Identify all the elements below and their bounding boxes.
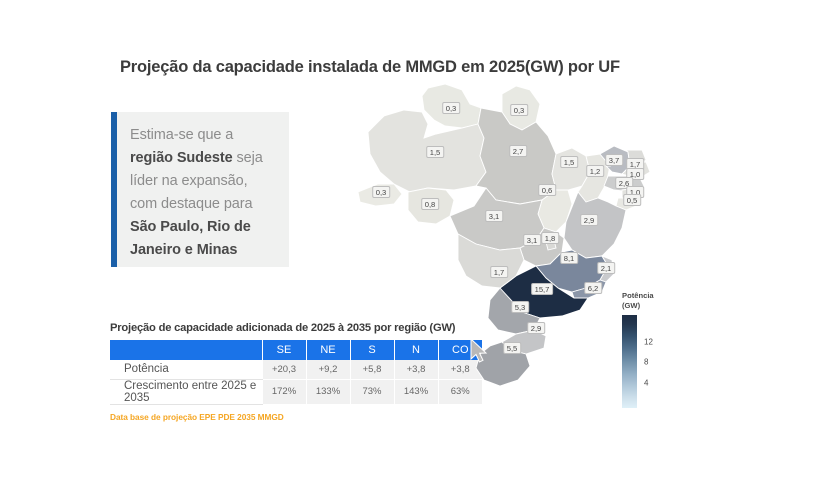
map-value-label-mt: 3,1	[485, 210, 503, 222]
legend-title: Potência (GW)	[622, 291, 692, 311]
cell-potencia-ne: +9,2	[306, 360, 350, 379]
map-value-label-rs: 5,5	[503, 342, 521, 354]
map-value-label-pa: 2,7	[509, 145, 527, 157]
infographic-root: Projeção da capacidade instalada de MMGD…	[0, 0, 826, 479]
col-header-blank	[110, 340, 262, 360]
legend-title-line1: Potência	[622, 291, 692, 301]
map-value-label-ma: 1,5	[560, 156, 578, 168]
callout-box: Estima-se que a região Sudeste seja líde…	[111, 112, 289, 267]
map-value-label-se: 0,5	[623, 194, 641, 206]
legend-tick-8: 8	[644, 358, 648, 367]
map-value-label-mg: 8,1	[560, 252, 578, 264]
legend-colorbar	[622, 315, 637, 408]
col-header-ne: NE	[306, 340, 350, 360]
map-value-label-to: 0,6	[538, 184, 556, 196]
map-value-label-df: 1,8	[541, 232, 559, 244]
legend-tick-4: 4	[644, 379, 648, 388]
map-value-label-sc: 2,9	[527, 322, 545, 334]
uf-shape-group	[358, 84, 650, 386]
legend-tick-12: 12	[644, 338, 653, 347]
map-value-label-rj: 6,2	[584, 282, 602, 294]
map-value-label-sp: 15,7	[531, 283, 553, 295]
cell-crescimento-se: 172%	[262, 379, 306, 404]
map-value-label-go: 3,1	[523, 234, 541, 246]
map-value-label-ba: 2,9	[580, 214, 598, 226]
callout-line1: Estima-se que a	[130, 127, 233, 143]
map-value-label-ce: 3,7	[605, 154, 623, 166]
map-legend: Potência (GW) 12 8 4	[622, 291, 692, 408]
map-value-label-es: 2,1	[597, 262, 615, 274]
row-label-potencia: Potência	[110, 360, 262, 379]
cell-potencia-se: +20,3	[262, 360, 306, 379]
mouse-cursor-icon	[470, 338, 489, 368]
cell-crescimento-ne: 133%	[306, 379, 350, 404]
col-header-se: SE	[262, 340, 306, 360]
table-footnote: Data base de projeção EPE PDE 2035 MMGD	[110, 412, 482, 422]
map-value-label-ms: 1,7	[490, 266, 508, 278]
legend-title-line2: (GW)	[622, 301, 692, 311]
callout-text: Estima-se que a região Sudeste seja líde…	[130, 124, 275, 262]
map-value-label-ac: 0,3	[372, 186, 390, 198]
map-value-label-ro: 0,8	[421, 198, 439, 210]
legend-body: 12 8 4	[622, 315, 688, 408]
callout-bold1: região Sudeste	[130, 150, 233, 166]
map-value-label-rr: 0,3	[442, 102, 460, 114]
map-value-label-am: 1,5	[426, 146, 444, 158]
map-value-label-pi: 1,2	[586, 165, 604, 177]
map-value-label-pr: 5,3	[511, 301, 529, 313]
row-label-crescimento: Crescimento entre 2025 e 2035	[110, 379, 262, 404]
callout-bold2: São Paulo, Rio de Janeiro e Minas	[130, 219, 251, 258]
map-value-label-ap: 0,3	[510, 104, 528, 116]
page-title: Projeção da capacidade instalada de MMGD…	[120, 58, 720, 77]
